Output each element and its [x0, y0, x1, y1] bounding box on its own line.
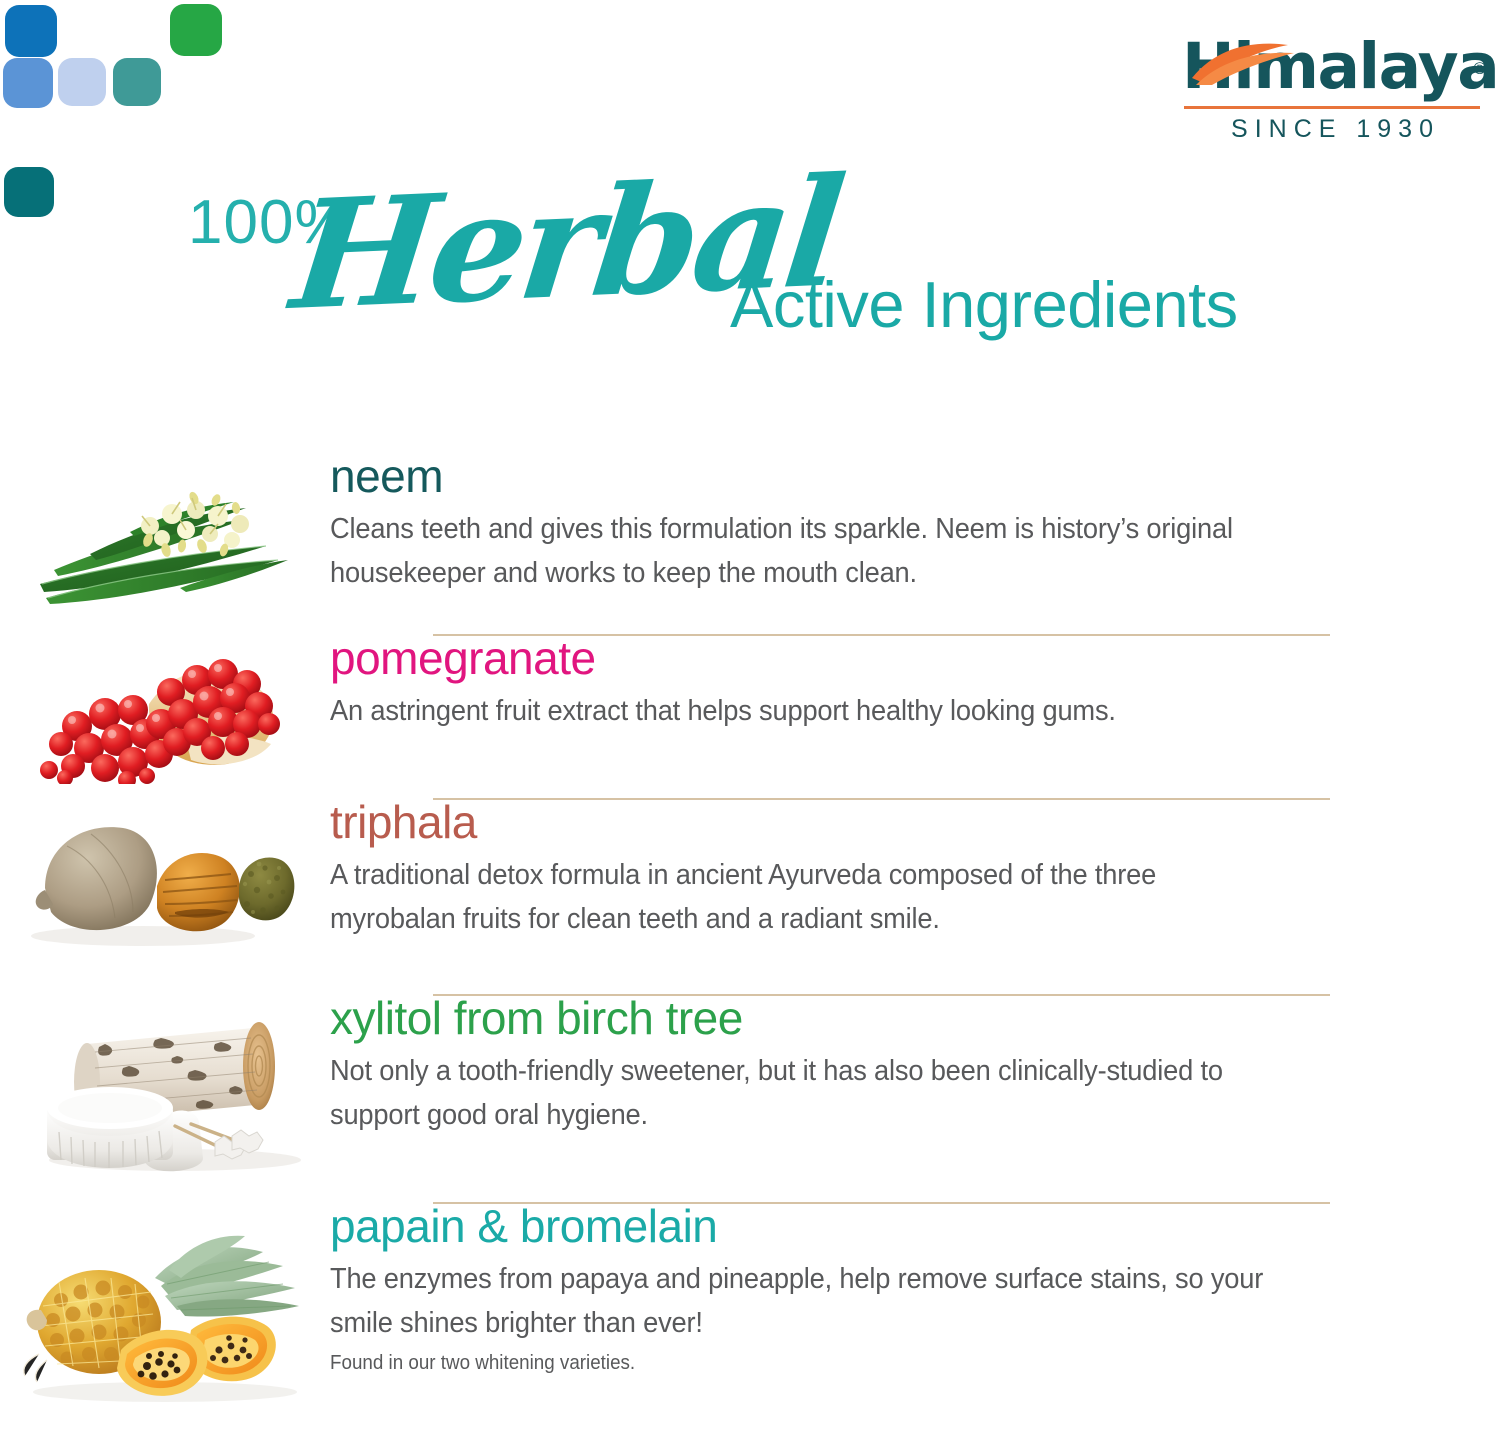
ingredient-body: triphala A traditional detox formula in …	[330, 798, 1500, 941]
brand-tagline: SINCE 1930	[1182, 115, 1482, 144]
triphala-fruits-photo	[31, 812, 299, 952]
ingredient-thumb-wrap	[0, 1202, 330, 1404]
ingredient-row-pomegranate: pomegranate An astringent fruit extract …	[0, 634, 1500, 798]
square-green	[170, 4, 222, 56]
ingredient-description-pomegranate: An astringent fruit extract that helps s…	[330, 689, 1275, 733]
ingredient-body: papain & bromelain The enzymes from papa…	[330, 1202, 1500, 1377]
ingredient-thumb-wrap	[0, 994, 330, 1176]
square-blue-dark	[5, 5, 57, 57]
pineapple-papaya-photo	[15, 1226, 315, 1404]
ingredient-description-xylitol: Not only a tooth-friendly sweetener, but…	[330, 1049, 1275, 1137]
ingredient-thumb-wrap	[0, 452, 330, 616]
headline-subtitle: Active Ingredients	[730, 267, 1238, 342]
ingredient-name-neem: neem	[330, 452, 1335, 501]
ingredient-name-papain-bromelain: papain & bromelain	[330, 1202, 1335, 1251]
square-blue-light	[58, 58, 106, 106]
ingredient-row-xylitol: xylitol from birch tree Not only a tooth…	[0, 994, 1500, 1202]
square-blue-mid	[3, 58, 53, 108]
square-teal-mid	[113, 58, 161, 106]
ingredient-thumb-wrap	[0, 634, 330, 784]
ingredient-thumb-wrap	[0, 798, 330, 952]
ingredient-name-triphala: triphala	[330, 798, 1335, 847]
page-headline: 100% Herbal Active Ingredients	[170, 175, 1310, 360]
pomegranate-photo	[31, 648, 299, 784]
birch-xylitol-photo	[25, 1008, 305, 1176]
ingredient-description-triphala: A traditional detox formula in ancient A…	[330, 853, 1275, 941]
ingredient-body: pomegranate An astringent fruit extract …	[330, 634, 1500, 733]
brand-wordmark: Himalaya ®	[1182, 30, 1482, 104]
ingredient-row-neem: neem Cleans teeth and gives this formula…	[0, 452, 1500, 634]
ingredient-name-xylitol: xylitol from birch tree	[330, 994, 1335, 1043]
neem-leaves-photo	[30, 466, 300, 616]
brand-name-text: Himalaya	[1182, 30, 1498, 103]
ingredient-body: xylitol from birch tree Not only a tooth…	[330, 994, 1500, 1137]
square-teal-dark	[4, 167, 54, 217]
ingredient-body: neem Cleans teeth and gives this formula…	[330, 452, 1500, 595]
ingredient-description-neem: Cleans teeth and gives this formulation …	[330, 507, 1275, 595]
brand-logo: Himalaya ® SINCE 1930	[1182, 30, 1482, 144]
ingredient-footnote: Found in our two whitening varieties.	[330, 1349, 1275, 1377]
ingredient-description-papain-bromelain: The enzymes from papaya and pineapple, h…	[330, 1257, 1275, 1345]
ingredient-row-triphala: triphala A traditional detox formula in …	[0, 798, 1500, 994]
brand-rule	[1184, 106, 1480, 109]
ingredient-row-papain-bromelain: papain & bromelain The enzymes from papa…	[0, 1202, 1500, 1402]
registered-trademark-icon: ®	[1473, 32, 1486, 106]
ingredient-list: neem Cleans teeth and gives this formula…	[0, 452, 1500, 1402]
ingredient-name-pomegranate: pomegranate	[330, 634, 1335, 683]
